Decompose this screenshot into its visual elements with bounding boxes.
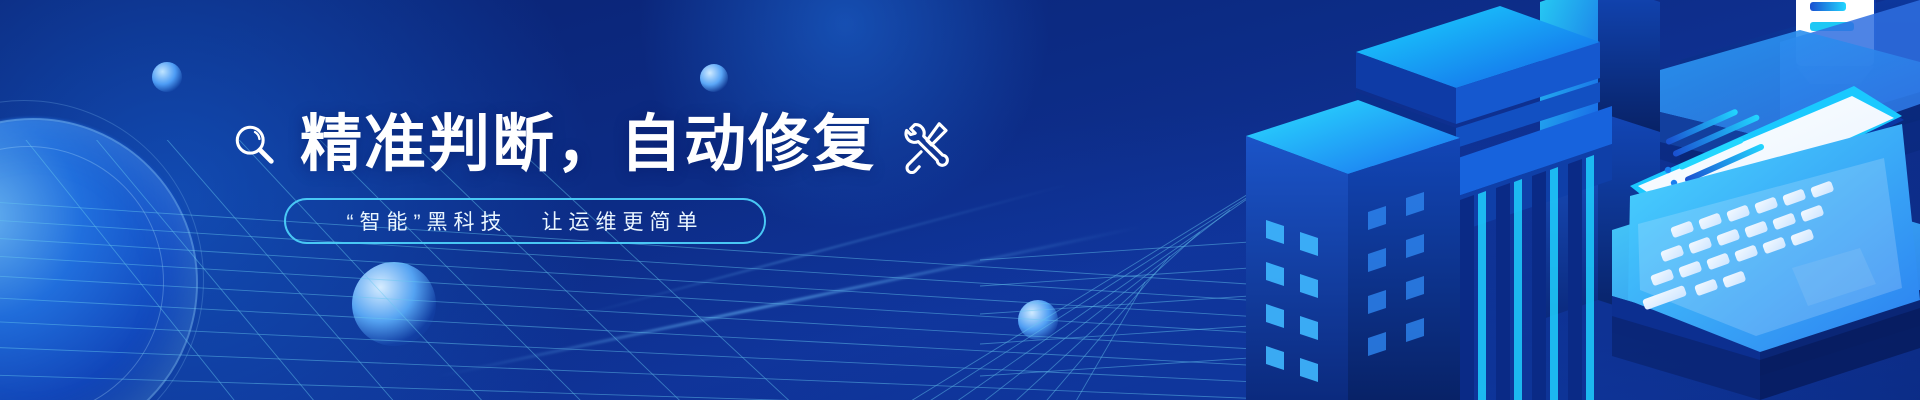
subtitle-right: 让运维更简单 bbox=[542, 206, 704, 236]
wrench-screwdriver-icon bbox=[898, 116, 956, 174]
globe-ring bbox=[0, 118, 198, 400]
page-title: 精准判断，自动修复 bbox=[300, 113, 876, 177]
subtitle-left: “智能”黑科技 bbox=[347, 206, 508, 236]
glowing-globe bbox=[0, 118, 198, 400]
headline-block: 精准判断，自动修复 “智能”黑科技 让运维更简单 bbox=[232, 108, 992, 244]
isometric-illustration bbox=[1160, 0, 1920, 400]
light-beam-1 bbox=[438, 225, 1143, 378]
magnifier-icon bbox=[232, 122, 278, 168]
headline-row: 精准判断，自动修复 bbox=[232, 108, 992, 182]
promo-banner: 精准判断，自动修复 “智能”黑科技 让运维更简单 bbox=[0, 0, 1920, 400]
globe-arc-1 bbox=[0, 100, 204, 400]
bokeh-dot-2 bbox=[700, 64, 728, 92]
office-building-with-windows bbox=[1246, 100, 1460, 400]
subtitle-pill: “智能”黑科技 让运维更简单 bbox=[284, 198, 766, 244]
bokeh-dot-3 bbox=[352, 262, 436, 346]
globe-arc-2 bbox=[0, 146, 164, 400]
bokeh-dot-4 bbox=[1018, 300, 1058, 340]
bokeh-dot-1 bbox=[152, 62, 182, 92]
